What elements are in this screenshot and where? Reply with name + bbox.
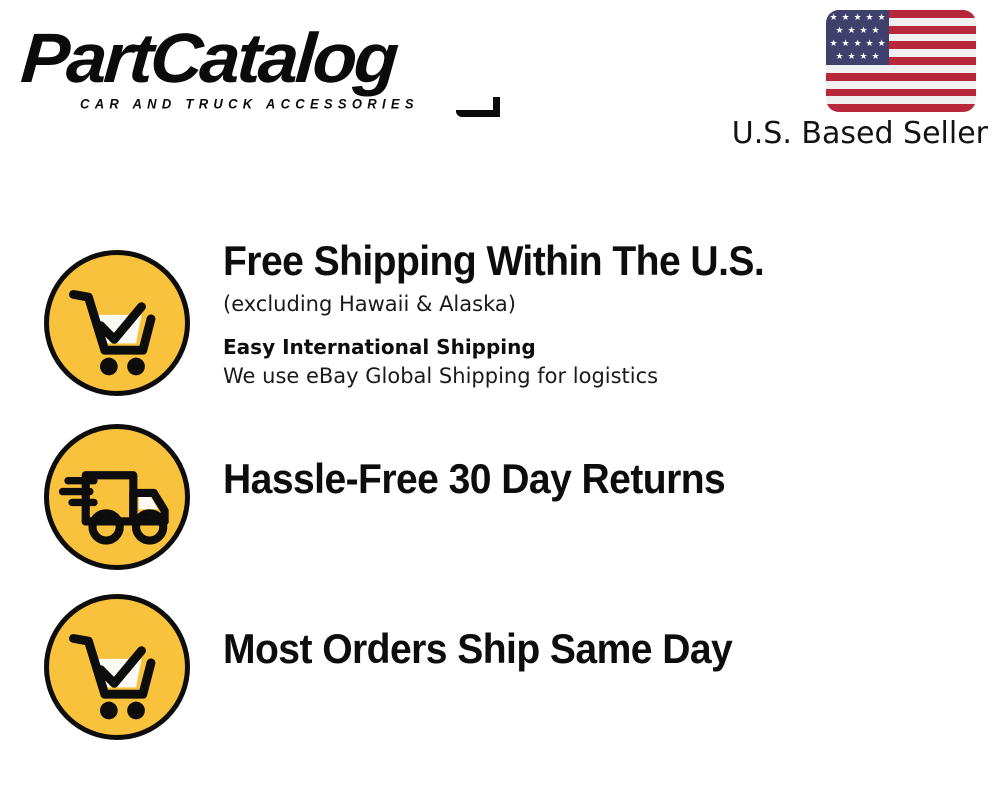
banner-header: PartCatalog CAR AND TRUCK ACCESSORIES ★ … xyxy=(0,0,1000,180)
logo-swash-tail xyxy=(456,110,500,117)
feature-row: Most Orders Ship Same Day xyxy=(0,582,1000,752)
cart-check-icon xyxy=(44,250,190,396)
feature-subnote: We use eBay Global Shipping for logistic… xyxy=(223,362,990,390)
seller-badge: ★ ★ ★ ★ ★ ★ ★ ★ ★ ★ ★ ★ ★ ★ ★ ★ ★ ★ U.S.… xyxy=(718,10,988,155)
flag-stripe xyxy=(826,104,976,112)
feature-row: Hassle-Free 30 Day Returns xyxy=(0,412,1000,582)
feature-subtitle: Easy International Shipping xyxy=(223,334,990,360)
brand-logo[interactable]: PartCatalog CAR AND TRUCK ACCESSORIES xyxy=(24,22,494,117)
brand-tagline: CAR AND TRUCK ACCESSORIES xyxy=(80,96,419,112)
cart-check-icon xyxy=(44,594,190,740)
feature-title: Free Shipping Within The U.S. xyxy=(223,236,936,286)
flag-stripe xyxy=(826,81,976,89)
feature-row: Free Shipping Within The U.S. (excluding… xyxy=(0,236,1000,412)
feature-text: Most Orders Ship Same Day xyxy=(223,624,990,674)
delivery-truck-icon xyxy=(44,424,190,570)
brand-wordmark: PartCatalog xyxy=(19,22,399,94)
feature-text: Hassle-Free 30 Day Returns xyxy=(223,454,990,504)
flag-stripe xyxy=(826,73,976,81)
us-flag-icon: ★ ★ ★ ★ ★ ★ ★ ★ ★ ★ ★ ★ ★ ★ ★ ★ ★ ★ xyxy=(826,10,976,112)
feature-title: Most Orders Ship Same Day xyxy=(223,624,936,674)
flag-stripe xyxy=(826,96,976,104)
seller-label: U.S. Based Seller xyxy=(718,114,988,154)
flag-stripe xyxy=(826,65,976,73)
flag-stripe xyxy=(826,89,976,97)
feature-text: Free Shipping Within The U.S. (excluding… xyxy=(223,236,990,390)
flag-canton: ★ ★ ★ ★ ★ ★ ★ ★ ★ ★ ★ ★ ★ ★ ★ ★ ★ ★ xyxy=(826,10,889,65)
feature-note: (excluding Hawaii & Alaska) xyxy=(223,290,990,318)
feature-title: Hassle-Free 30 Day Returns xyxy=(223,454,936,504)
